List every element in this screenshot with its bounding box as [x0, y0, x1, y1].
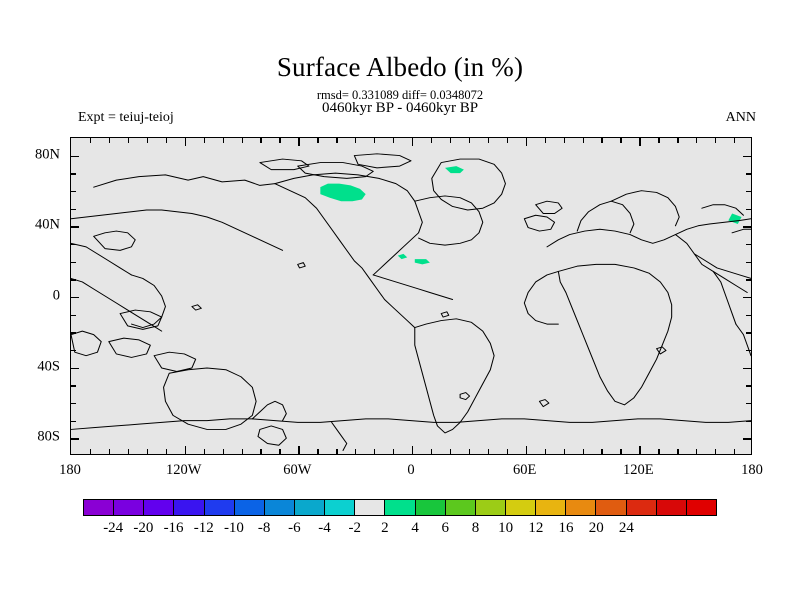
lon-tick	[583, 138, 584, 143]
colorbar-band[interactable]	[446, 500, 476, 515]
colorbar-band[interactable]	[657, 500, 687, 515]
colorbar-band[interactable]	[295, 500, 325, 515]
lat-tick	[746, 350, 751, 351]
barents-svalbard-patch	[445, 166, 464, 173]
lon-tick	[279, 138, 280, 143]
lon-tick	[526, 446, 527, 454]
lon-tick	[715, 449, 716, 454]
colorbar-band[interactable]	[265, 500, 295, 515]
lon-tick	[564, 449, 565, 454]
map-frame	[70, 137, 752, 455]
lat-tick	[71, 262, 76, 263]
lat-tick-label: 80N	[35, 146, 60, 163]
lon-tick	[355, 138, 356, 143]
lon-tick	[734, 449, 735, 454]
colorbar-tick-label: -8	[258, 520, 271, 537]
colorbar-tick-label: 12	[528, 520, 543, 537]
colorbar[interactable]	[83, 499, 717, 516]
lon-tick	[412, 138, 413, 146]
colorbar-band[interactable]	[536, 500, 566, 515]
lat-tick	[746, 385, 751, 386]
lon-tick	[507, 449, 508, 454]
colorbar-band[interactable]	[627, 500, 657, 515]
lon-tick	[185, 138, 186, 146]
lat-tick	[71, 368, 79, 369]
lon-tick	[469, 449, 470, 454]
lat-tick	[743, 297, 751, 298]
lon-tick	[298, 446, 299, 454]
lon-tick	[564, 138, 565, 143]
colorbar-band[interactable]	[325, 500, 355, 515]
lon-tick	[545, 449, 546, 454]
lon-tick	[658, 449, 659, 454]
lat-tick	[746, 244, 751, 245]
sahara-patch-east	[415, 259, 430, 264]
lon-tick	[260, 138, 261, 143]
lon-tick	[223, 138, 224, 143]
colorbar-tick-label: 16	[559, 520, 574, 537]
lon-tick	[734, 138, 735, 143]
lat-tick	[743, 368, 751, 369]
lon-tick-label: 120W	[166, 462, 201, 479]
colorbar-band[interactable]	[416, 500, 446, 515]
colorbar-band[interactable]	[596, 500, 626, 515]
colorbar-tick-label: -10	[224, 520, 244, 537]
colorbar-tick-label: -2	[348, 520, 361, 537]
colorbar-tick-label: 2	[381, 520, 389, 537]
north-atlantic-blob	[320, 184, 365, 202]
lon-tick	[185, 446, 186, 454]
lon-tick	[639, 446, 640, 454]
lon-tick	[204, 449, 205, 454]
north-pacific-kamchatka-patch	[728, 213, 741, 224]
colorbar-tick-label: -24	[103, 520, 123, 537]
plot-canvas: Surface Albedo (in %) rmsd= 0.331089 dif…	[0, 0, 800, 600]
lon-tick	[166, 138, 167, 143]
lon-tick-label: 60W	[283, 462, 311, 479]
colorbar-tick-label: -4	[318, 520, 331, 537]
lon-tick	[583, 449, 584, 454]
lon-tick	[677, 449, 678, 454]
lon-tick	[696, 449, 697, 454]
lon-tick	[412, 446, 413, 454]
lon-tick	[639, 138, 640, 146]
lon-tick	[355, 449, 356, 454]
lon-tick	[507, 138, 508, 143]
colorbar-tick-label: -20	[133, 520, 153, 537]
sahara-patch-west	[398, 254, 407, 259]
lon-tick	[128, 449, 129, 454]
lat-tick	[71, 297, 79, 298]
lon-tick	[715, 138, 716, 143]
lon-tick	[601, 449, 602, 454]
lon-tick	[431, 449, 432, 454]
lon-tick	[658, 138, 659, 143]
colorbar-bands[interactable]	[83, 499, 717, 516]
lon-tick	[620, 449, 621, 454]
lon-tick	[488, 138, 489, 143]
lat-tick	[71, 385, 76, 386]
lat-tick	[71, 156, 79, 157]
colorbar-band[interactable]	[174, 500, 204, 515]
lat-tick	[71, 279, 76, 280]
lon-tick	[260, 449, 261, 454]
lon-tick-label: 0	[407, 462, 414, 479]
lat-tick	[746, 173, 751, 174]
colorbar-tick-label: 20	[589, 520, 604, 537]
lat-tick	[743, 156, 751, 157]
colorbar-tick-label: 6	[442, 520, 450, 537]
lat-tick	[746, 191, 751, 192]
colorbar-band[interactable]	[476, 500, 506, 515]
lat-tick-label: 40S	[37, 358, 60, 375]
colorbar-tick-label: -6	[288, 520, 301, 537]
colorbar-tick-label: 4	[411, 520, 419, 537]
page-title: Surface Albedo (in %)	[0, 52, 800, 83]
colorbar-tick-label: 8	[472, 520, 480, 537]
lat-tick	[71, 315, 76, 316]
lon-tick	[374, 138, 375, 143]
lon-tick	[109, 449, 110, 454]
lon-tick	[393, 449, 394, 454]
lon-tick	[317, 138, 318, 143]
lon-tick	[317, 449, 318, 454]
lon-tick	[374, 449, 375, 454]
lon-tick	[279, 449, 280, 454]
lat-tick-label: 0	[53, 288, 60, 305]
lon-tick	[469, 138, 470, 143]
lon-tick	[601, 138, 602, 143]
colorbar-band[interactable]	[687, 500, 716, 515]
lon-tick	[393, 138, 394, 143]
lat-tick	[71, 209, 76, 210]
lon-tick-label: 60E	[513, 462, 536, 479]
lon-tick-label: 120E	[623, 462, 654, 479]
lon-tick	[298, 138, 299, 146]
lon-tick-label: 180	[741, 462, 763, 479]
lon-tick	[242, 449, 243, 454]
lon-tick	[90, 449, 91, 454]
lon-tick	[90, 138, 91, 143]
lat-tick	[71, 421, 76, 422]
lon-tick-label: 180	[59, 462, 81, 479]
lon-tick	[431, 138, 432, 143]
lat-tick	[71, 173, 76, 174]
lon-tick	[204, 138, 205, 143]
coastline-layer	[71, 154, 751, 451]
lon-tick	[242, 138, 243, 143]
lat-tick	[746, 279, 751, 280]
colorbar-band[interactable]	[144, 500, 174, 515]
lon-tick	[166, 449, 167, 454]
colorbar-band[interactable]	[114, 500, 144, 515]
lat-tick	[743, 226, 751, 227]
lon-tick	[128, 138, 129, 143]
lat-tick	[746, 209, 751, 210]
lat-tick	[746, 262, 751, 263]
map-panel	[70, 137, 752, 455]
world-map	[71, 138, 751, 454]
lat-tick-label: 80S	[37, 429, 60, 446]
lon-tick	[450, 449, 451, 454]
colorbar-tick-label: -12	[194, 520, 214, 537]
lat-tick	[746, 403, 751, 404]
lat-tick	[743, 438, 751, 439]
colorbar-band[interactable]	[205, 500, 235, 515]
lat-tick	[746, 421, 751, 422]
lon-tick	[147, 138, 148, 143]
lon-tick	[526, 138, 527, 146]
lat-tick-label: 40N	[35, 217, 60, 234]
lon-tick	[620, 138, 621, 143]
lon-tick	[147, 449, 148, 454]
colorbar-tick-label: -16	[164, 520, 184, 537]
colorbar-band[interactable]	[355, 500, 385, 515]
season-label: ANN	[726, 110, 756, 126]
lon-tick	[677, 138, 678, 143]
lat-tick	[71, 332, 76, 333]
lat-tick	[71, 191, 76, 192]
lon-tick	[336, 138, 337, 143]
colorbar-band[interactable]	[506, 500, 536, 515]
lat-tick	[71, 244, 76, 245]
colorbar-band[interactable]	[84, 500, 114, 515]
experiment-label: Expt = teiuj-teioj	[78, 110, 174, 126]
colorbar-band[interactable]	[235, 500, 265, 515]
lat-tick	[746, 332, 751, 333]
lon-tick	[336, 449, 337, 454]
colorbar-band[interactable]	[566, 500, 596, 515]
lat-tick	[71, 350, 76, 351]
lon-tick	[488, 449, 489, 454]
lat-tick	[71, 438, 79, 439]
lat-tick	[746, 315, 751, 316]
lon-tick	[696, 138, 697, 143]
colorbar-tick-label: 24	[619, 520, 634, 537]
lat-tick	[71, 403, 76, 404]
lon-tick	[545, 138, 546, 143]
lon-tick	[450, 138, 451, 143]
colorbar-tick-label: 10	[498, 520, 513, 537]
lon-tick	[109, 138, 110, 143]
lat-tick	[71, 226, 79, 227]
lon-tick	[223, 449, 224, 454]
colorbar-band[interactable]	[385, 500, 415, 515]
